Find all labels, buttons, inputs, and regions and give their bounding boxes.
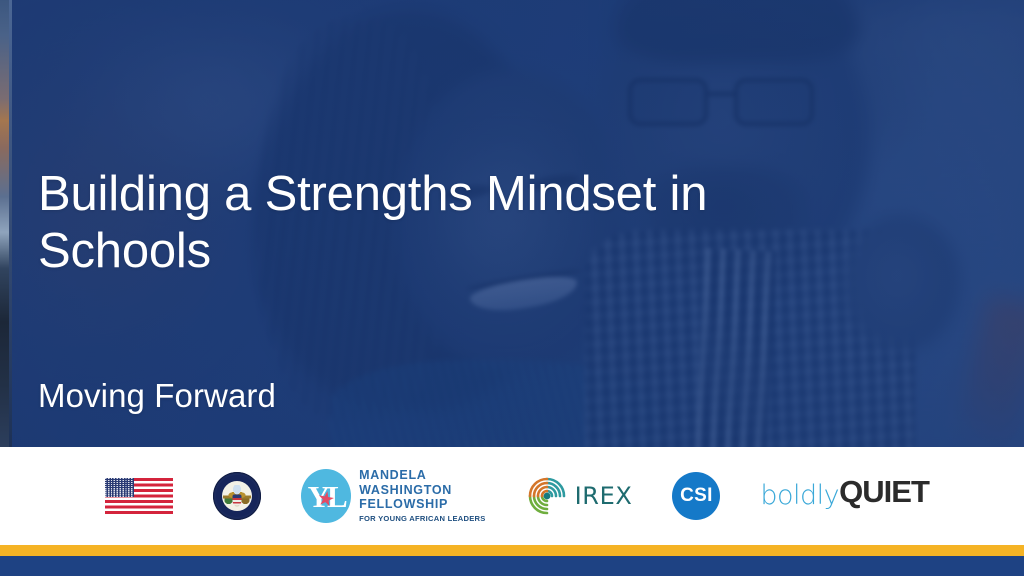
mwf-line-2: WASHINGTON — [359, 483, 486, 498]
mwf-monogram-icon: YL — [301, 469, 351, 523]
boldly-wordmark: boldly — [760, 484, 839, 508]
quiet-wordmark: QUIET — [839, 478, 929, 506]
logo-csi: CSI — [672, 472, 720, 520]
logo-boldly-quiet: boldly QUIET — [760, 484, 929, 508]
seal-shield-icon — [233, 494, 242, 505]
mwf-wordmark: MANDELA WASHINGTON FELLOWSHIP FOR YOUNG … — [359, 468, 486, 524]
logo-row: YL MANDELA WASHINGTON FELLOWSHIP FOR YOU… — [95, 468, 929, 524]
logo-mandela-washington-fellowship: YL MANDELA WASHINGTON FELLOWSHIP FOR YOU… — [301, 468, 486, 524]
logo-state-department — [213, 472, 261, 520]
irex-arcs-icon — [526, 475, 568, 517]
csi-circle-icon: CSI — [672, 472, 720, 520]
mwf-line-1: MANDELA — [359, 468, 486, 483]
state-department-seal-icon — [213, 472, 261, 520]
logo-us-flag — [105, 478, 173, 514]
mwf-tagline: FOR YOUNG AFRICAN LEADERS — [359, 515, 486, 524]
mwf-line-3: FELLOWSHIP — [359, 497, 486, 512]
slide-title: Building a Strengths Mindset in Schools — [38, 166, 798, 281]
left-edge-strip-border — [9, 0, 12, 447]
flag-canton — [105, 478, 134, 497]
irex-arc-svg — [526, 475, 568, 517]
csi-wordmark: CSI — [680, 485, 713, 507]
partner-logo-band: YL MANDELA WASHINGTON FELLOWSHIP FOR YOU… — [0, 447, 1024, 545]
gold-accent-bar — [0, 545, 1024, 556]
logo-irex: IREX — [526, 475, 633, 517]
left-edge-strip — [0, 0, 9, 447]
slide-subtitle: Moving Forward — [38, 377, 276, 415]
us-flag-icon — [105, 478, 173, 514]
title-slide: Building a Strengths Mindset in Schools … — [0, 0, 1024, 576]
navy-footer-bar — [0, 556, 1024, 576]
irex-wordmark: IREX — [575, 482, 633, 510]
